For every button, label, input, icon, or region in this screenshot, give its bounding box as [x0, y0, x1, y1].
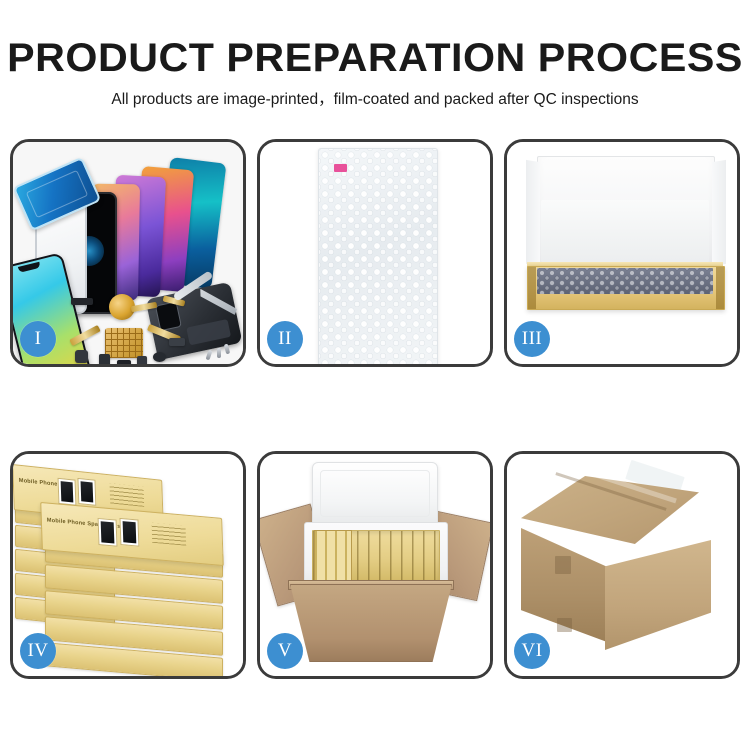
box-window-icon	[119, 518, 139, 547]
packed-boxes-side-icon	[314, 530, 352, 582]
box-window-icon	[98, 518, 118, 547]
part-icon	[75, 350, 88, 363]
box-spec-lines-icon	[152, 523, 187, 546]
process-step-grid: I II	[10, 139, 740, 679]
step-badge-1: I	[20, 321, 56, 357]
step-badge-4: IV	[20, 633, 56, 669]
box-window-icon	[77, 478, 96, 506]
pink-label-icon	[334, 164, 347, 172]
screw-icon	[224, 344, 230, 355]
step-panel-4[interactable]: Mobile Phone Spare Parts Mobile Phone Sp…	[10, 451, 246, 679]
step-panel-1[interactable]: I	[10, 139, 246, 367]
box-window-icon	[58, 478, 77, 506]
part-icon	[71, 298, 93, 305]
product-preparation-infographic: PRODUCT PREPARATION PROCESS All products…	[0, 0, 750, 750]
foam-lid-icon	[312, 462, 438, 528]
page-title: PRODUCT PREPARATION PROCESS	[0, 36, 750, 81]
bubble-wrap-icon	[318, 148, 438, 364]
part-icon	[153, 352, 166, 362]
carton-tab-icon	[555, 556, 571, 574]
part-icon	[137, 356, 147, 364]
step-panel-5[interactable]: V	[257, 451, 493, 679]
step-panel-2[interactable]: II	[257, 139, 493, 367]
gold-mesh-icon	[105, 328, 143, 358]
screw-icon	[206, 350, 213, 361]
carton-body-icon	[290, 584, 452, 662]
carton-right-face-icon	[605, 540, 711, 650]
part-icon	[117, 360, 131, 364]
part-icon	[169, 338, 185, 346]
foam-sheet-icon	[541, 200, 709, 262]
box-spec-lines-icon	[109, 483, 144, 507]
step-badge-5: V	[267, 633, 303, 669]
carton-tab-icon	[557, 618, 572, 632]
bubble-wrap-fill-icon	[537, 268, 713, 294]
step-badge-6: VI	[514, 633, 550, 669]
step-panel-6[interactable]: VI	[504, 451, 740, 679]
step-badge-3: III	[514, 321, 550, 357]
step-badge-2: II	[267, 321, 303, 357]
screw-icon	[217, 348, 221, 358]
part-icon	[99, 354, 110, 364]
step-panel-3[interactable]: III	[504, 139, 740, 367]
page-subtitle: All products are image-printed，film-coat…	[0, 87, 750, 109]
